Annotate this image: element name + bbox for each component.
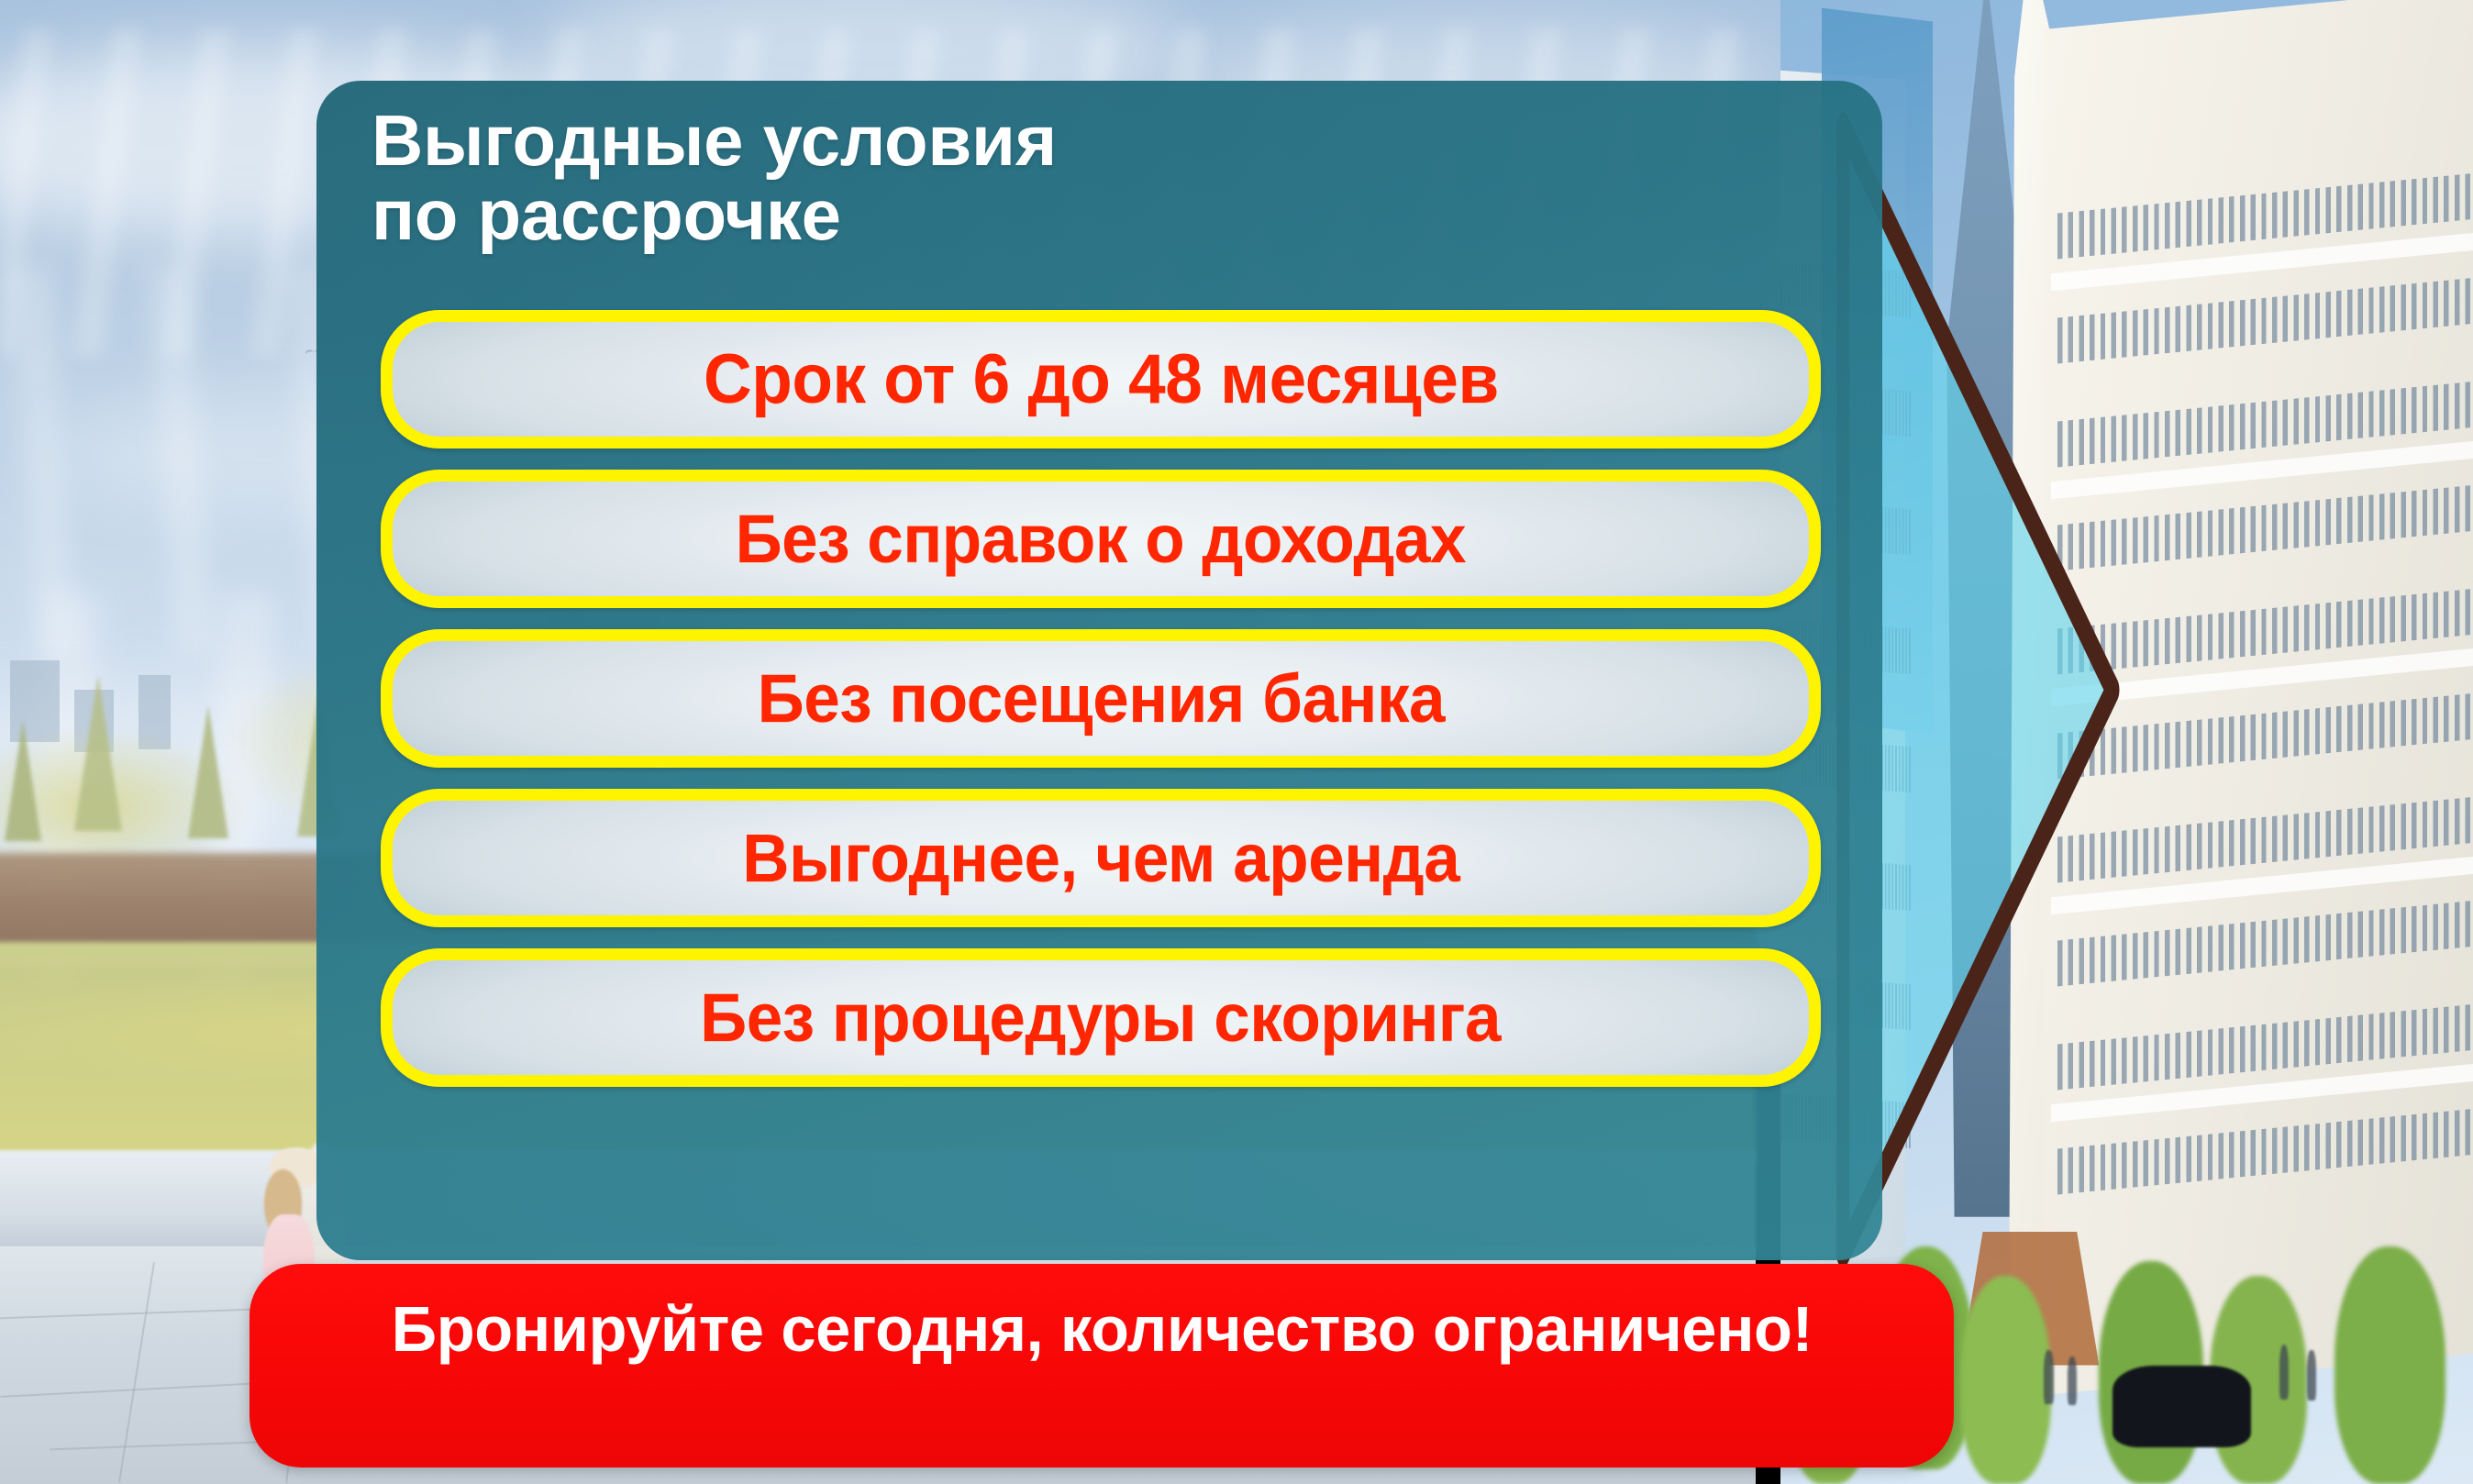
cta-label: Бронируйте сегодня, количество ограничен… xyxy=(391,1297,1812,1361)
conifer-tree xyxy=(5,720,41,841)
benefit-pill-no-income-proof[interactable]: Без справок о доходах xyxy=(381,470,1821,608)
benefit-pill-cheaper-than-rent[interactable]: Выгоднее, чем аренда xyxy=(381,789,1821,927)
benefit-label: Без справок о доходах xyxy=(736,505,1466,573)
pedestrian xyxy=(2307,1350,2316,1401)
pedestrian xyxy=(2044,1350,2054,1403)
offer-panel: Выгодные условия по рассрочке Срок от 6 … xyxy=(316,81,1882,1260)
street-tree xyxy=(2334,1246,2445,1484)
benefit-label: Без посещения банка xyxy=(757,665,1444,733)
benefits-list: Срок от 6 до 48 месяцев Без справок о до… xyxy=(381,310,1821,1108)
parked-car xyxy=(2113,1366,2251,1447)
benefit-pill-term[interactable]: Срок от 6 до 48 месяцев xyxy=(381,310,1821,449)
conifer-tree xyxy=(74,675,122,831)
page-title: Выгодные условия по рассрочке xyxy=(372,104,1802,252)
conifer-tree xyxy=(188,705,228,838)
cta-button[interactable]: Бронируйте сегодня, количество ограничен… xyxy=(250,1264,1954,1467)
benefit-label: Без процедуры скоринга xyxy=(701,984,1502,1052)
pedestrian xyxy=(2279,1345,2290,1400)
building-render xyxy=(1780,0,2473,1484)
street-tree xyxy=(1960,1276,2050,1484)
benefit-pill-no-scoring[interactable]: Без процедуры скоринга xyxy=(381,948,1821,1087)
benefit-label: Срок от 6 до 48 месяцев xyxy=(704,345,1499,415)
pedestrian xyxy=(2068,1357,2077,1405)
benefit-pill-no-bank-visit[interactable]: Без посещения банка xyxy=(381,629,1821,768)
promo-banner: Выгодные условия по рассрочке Срок от 6 … xyxy=(0,0,2473,1484)
benefit-label: Выгоднее, чем аренда xyxy=(742,825,1459,892)
